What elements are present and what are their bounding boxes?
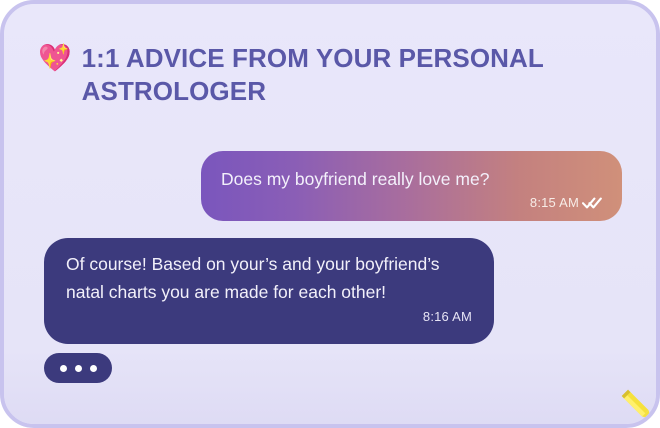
message-timestamp: 8:16 AM bbox=[423, 309, 472, 324]
sparkling-heart-icon: 💖 bbox=[38, 43, 72, 73]
double-check-icon bbox=[582, 196, 602, 210]
message-meta: 8:15 AM bbox=[221, 195, 602, 210]
pencil-icon bbox=[616, 384, 660, 428]
page-header: 💖 1:1 ADVICE FROM YOUR PERSONAL ASTROLOG… bbox=[38, 42, 616, 109]
message-bubble-outgoing[interactable]: Does my boyfriend really love me? 8:15 A… bbox=[201, 151, 622, 221]
message-text: Of course! Based on your’s and your boyf… bbox=[66, 250, 472, 307]
typing-dot bbox=[60, 365, 67, 372]
page-title: 1:1 ADVICE FROM YOUR PERSONAL ASTROLOGER bbox=[82, 42, 582, 109]
chat-card: 💖 1:1 ADVICE FROM YOUR PERSONAL ASTROLOG… bbox=[0, 0, 660, 428]
typing-dot bbox=[90, 365, 97, 372]
message-bubble-incoming[interactable]: Of course! Based on your’s and your boyf… bbox=[44, 238, 494, 344]
message-timestamp: 8:15 AM bbox=[530, 195, 579, 210]
message-text: Does my boyfriend really love me? bbox=[221, 165, 602, 193]
message-meta: 8:16 AM bbox=[66, 309, 472, 324]
typing-indicator bbox=[44, 353, 112, 383]
typing-dot bbox=[75, 365, 82, 372]
card-inner: 💖 1:1 ADVICE FROM YOUR PERSONAL ASTROLOG… bbox=[4, 4, 656, 424]
